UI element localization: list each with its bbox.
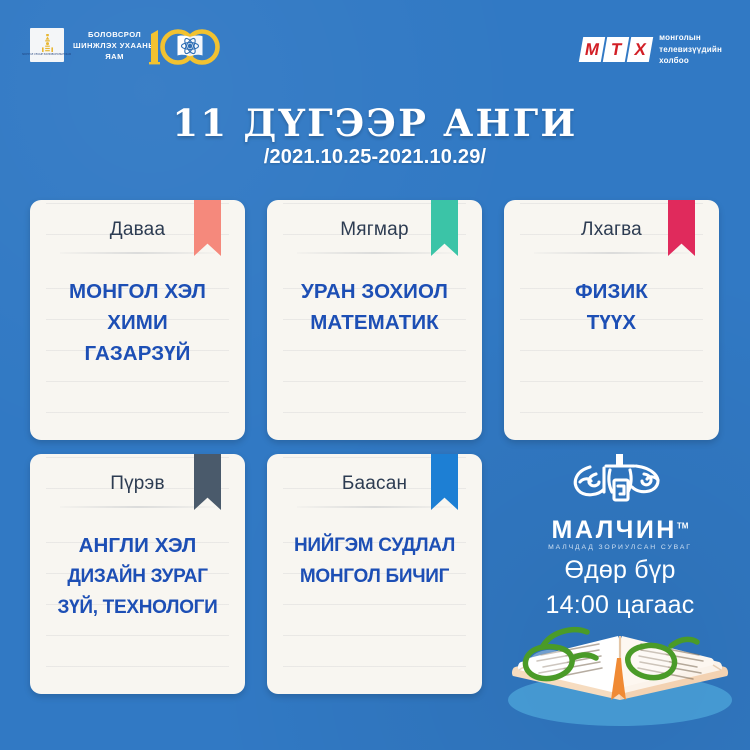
- title-block: 11 ДҮГЭЭР АНГИ /2021.10.25-2021.10.29/: [0, 104, 750, 169]
- subject-item: МОНГОЛ БИЧИГ: [273, 561, 476, 592]
- subject-list: ФИЗИК ТҮҮХ: [504, 276, 719, 338]
- subject-item: ТҮҮХ: [510, 307, 713, 338]
- ministry-name-line1: БОЛОВСРОЛ: [73, 29, 156, 40]
- ministry-crest-caption: МОНГОЛ УЛСЫН БОЛОВСРОЛЫН ЯАМ: [23, 53, 72, 56]
- subject-item: АНГЛИ ХЭЛ: [36, 530, 239, 561]
- ministry-name-line3: ЯАМ: [73, 51, 156, 62]
- subject-item: ФИЗИК: [510, 276, 713, 307]
- ministry-logo: МОНГОЛ УЛСЫН БОЛОВСРОЛЫН ЯАМ БОЛОВСРОЛ Ш…: [30, 28, 156, 62]
- subject-item: ГАЗАРЗҮЙ: [36, 338, 239, 369]
- malchin-brand: МАЛЧИНTM: [552, 516, 689, 545]
- page-title: 11 ДҮГЭЭР АНГИ: [0, 104, 750, 143]
- subject-item: МАТЕМАТИК: [273, 307, 476, 338]
- day-card-purev[interactable]: Пүрэв АНГЛИ ХЭЛ ДИЗАЙН ЗУРАГ ЗҮЙ, ТЕХНОЛ…: [30, 454, 245, 694]
- subject-item: МОНГОЛ ХЭЛ: [36, 276, 239, 307]
- mtx-logo: M T X монголын телевизүүдийн холбоо: [581, 32, 722, 67]
- anniversary-100-icon: [145, 24, 227, 68]
- malchin-emblem-icon: [564, 452, 676, 514]
- day-card-myagmar[interactable]: Мягмар УРАН ЗОХИОЛ МАТЕМАТИК: [267, 200, 482, 440]
- promo-schedule-line1: Өдөр бүр: [500, 555, 740, 586]
- mtx-mark-icon: M T X: [579, 37, 653, 62]
- mtx-letter-x: X: [627, 37, 653, 62]
- malchin-tagline: МАЛЧДАД ЗОРИУЛСАН СУВАГ: [500, 544, 740, 551]
- malchin-brand-text: МАЛЧИН: [552, 516, 677, 544]
- open-book-with-glasses-icon: [495, 608, 745, 740]
- subject-list: УРАН ЗОХИОЛ МАТЕМАТИК: [267, 276, 482, 338]
- ministry-name: БОЛОВСРОЛ ШИНЖЛЭХ УХААНЫ ЯАМ: [73, 29, 156, 62]
- mtx-name-line1: монголын: [659, 32, 722, 44]
- mtx-name-line2: телевизүүдийн: [659, 44, 722, 56]
- subject-item: ХИМИ: [36, 307, 239, 338]
- mtx-name: монголын телевизүүдийн холбоо: [659, 32, 722, 67]
- poster-root: МОНГОЛ УЛСЫН БОЛОВСРОЛЫН ЯАМ БОЛОВСРОЛ Ш…: [0, 0, 750, 750]
- day-name-underline: [60, 506, 215, 508]
- ministry-crest-icon: МОНГОЛ УЛСЫН БОЛОВСРОЛЫН ЯАМ: [30, 28, 64, 62]
- poster-header: МОНГОЛ УЛСЫН БОЛОВСРОЛЫН ЯАМ БОЛОВСРОЛ Ш…: [0, 0, 750, 95]
- mtx-letter-m: M: [579, 37, 605, 62]
- subject-list: АНГЛИ ХЭЛ ДИЗАЙН ЗУРАГ ЗҮЙ, ТЕХНОЛОГИ: [30, 530, 245, 623]
- day-card-lhagva[interactable]: Лхагва ФИЗИК ТҮҮХ: [504, 200, 719, 440]
- date-range: /2021.10.25-2021.10.29/: [0, 146, 750, 169]
- day-name-underline: [534, 252, 689, 254]
- mtx-letter-t: T: [603, 37, 629, 62]
- day-name-underline: [60, 252, 215, 254]
- day-name-underline: [297, 252, 452, 254]
- day-card-baasan[interactable]: Баасан НИЙГЭМ СУДЛАЛ МОНГОЛ БИЧИГ: [267, 454, 482, 694]
- ministry-name-line2: ШИНЖЛЭХ УХААНЫ: [73, 40, 156, 51]
- subject-list: МОНГОЛ ХЭЛ ХИМИ ГАЗАРЗҮЙ: [30, 276, 245, 369]
- day-card-davaa[interactable]: Даваа МОНГОЛ ХЭЛ ХИМИ ГАЗАРЗҮЙ: [30, 200, 245, 440]
- subject-item: ЗҮЙ, ТЕХНОЛОГИ: [36, 592, 239, 623]
- subject-list: НИЙГЭМ СУДЛАЛ МОНГОЛ БИЧИГ: [267, 530, 482, 592]
- soyombo-icon: [40, 34, 55, 53]
- day-name-underline: [297, 506, 452, 508]
- malchin-promo: МАЛЧИНTM МАЛЧДАД ЗОРИУЛСАН СУВАГ Өдөр бү…: [500, 452, 740, 620]
- subject-item: УРАН ЗОХИОЛ: [273, 276, 476, 307]
- subject-item: НИЙГЭМ СУДЛАЛ: [273, 530, 476, 561]
- trademark-icon: TM: [677, 522, 689, 531]
- subject-item: ДИЗАЙН ЗУРАГ: [36, 561, 239, 592]
- mtx-name-line3: холбоо: [659, 55, 722, 67]
